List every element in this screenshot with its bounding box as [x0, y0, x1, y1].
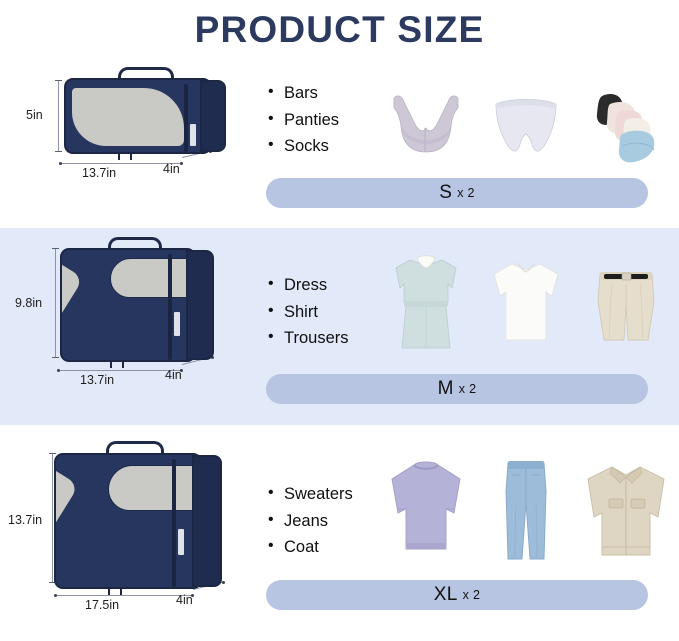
item-shirt [476, 244, 576, 359]
size-label: M [438, 378, 454, 400]
cube-mesh-diagonal-upper-medium [60, 256, 84, 362]
size-pill-xlarge[interactable]: XL x 2 [266, 580, 648, 610]
cube-mesh-top-medium [110, 258, 192, 298]
cube-handle-medium [108, 237, 162, 248]
bullet-item: Dress [268, 272, 349, 299]
cube-bottom-strap-small [118, 152, 132, 160]
width-dot-left-medium [57, 369, 60, 372]
bullet-item: Socks [268, 133, 339, 160]
cube-width-label-medium: 13.7in [80, 373, 114, 387]
bullet-list-small: Bars Panties Socks [268, 80, 339, 160]
cube-mesh-diagonal-lower-medium [60, 322, 61, 362]
cube-zipper-small [184, 84, 188, 152]
cube-width-label-small: 13.7in [82, 166, 116, 180]
cube-mesh-diagonal-upper-xlarge [54, 461, 79, 589]
packing-cube-small [40, 76, 230, 161]
cube-body-medium [60, 248, 196, 362]
item-sweater [376, 451, 476, 571]
cube-body-xlarge [54, 453, 202, 589]
size-pill-small[interactable]: S x 2 [266, 178, 648, 208]
item-bra [376, 78, 476, 173]
cube-side-panel-medium [186, 250, 214, 360]
content-column-xlarge: Sweaters Jeans Coat [256, 425, 679, 641]
cube-zipper-medium [168, 254, 172, 360]
item-socks [576, 78, 676, 173]
cube-zipper-pull-xlarge [178, 529, 184, 555]
bullet-item: Bars [268, 80, 339, 107]
cube-column-xlarge: 13.7in 17.5in 4in [0, 425, 256, 641]
bullet-item: Sweaters [268, 481, 353, 508]
size-quantity: x 2 [459, 382, 477, 396]
size-row-xlarge: 13.7in 17.5in 4in Sweaters Jeans [0, 425, 679, 641]
coat-icon [576, 451, 676, 571]
item-dress [376, 244, 476, 359]
item-panties [476, 78, 576, 173]
cube-zipper-xlarge [172, 459, 176, 587]
shirt-icon [476, 244, 576, 359]
cube-zipper-pull-small [190, 124, 196, 146]
size-quantity: x 2 [457, 186, 475, 200]
size-row-medium: 9.8in 13.7in 4in Dress Shirt Tr [0, 228, 679, 425]
size-quantity: x 2 [463, 588, 481, 602]
item-jeans [476, 451, 576, 571]
socks-icon [576, 78, 676, 173]
bullet-item: Panties [268, 107, 339, 134]
bullet-item: Shirt [268, 299, 349, 326]
panties-icon [476, 78, 576, 173]
bullet-item: Jeans [268, 508, 353, 535]
width-dot-left-small [59, 162, 62, 165]
width-guide-line-medium [58, 370, 182, 371]
cube-mesh-panel-small [72, 88, 184, 146]
cube-depth-label-medium: 4in [165, 368, 182, 382]
cube-depth-label-small: 4in [163, 162, 180, 176]
size-row-small: 5in 13.7in 4in Bars Panties Socks [0, 58, 679, 228]
cube-bottom-strap-medium [110, 360, 124, 368]
trousers-icon [576, 244, 676, 359]
bullet-list-xlarge: Sweaters Jeans Coat [268, 481, 353, 561]
size-label: XL [434, 584, 458, 606]
jeans-icon [476, 451, 576, 571]
page-title: PRODUCT SIZE [195, 11, 485, 48]
packing-cube-medium [38, 244, 228, 369]
sweater-icon [376, 451, 476, 571]
cube-bottom-strap-xlarge [108, 587, 122, 595]
cube-column-medium: 9.8in 13.7in 4in [0, 228, 256, 425]
bullet-item: Trousers [268, 325, 349, 352]
title-bar: PRODUCT SIZE [0, 0, 679, 58]
bullet-list-medium: Dress Shirt Trousers [268, 272, 349, 352]
item-coat [576, 451, 676, 571]
content-column-medium: Dress Shirt Trousers [256, 228, 679, 425]
dress-icon [376, 244, 476, 359]
cube-column-small: 5in 13.7in 4in [0, 58, 256, 228]
cube-zipper-pull-medium [174, 312, 180, 336]
bra-icon [376, 78, 476, 173]
item-trousers [576, 244, 676, 359]
content-column-small: Bars Panties Socks [256, 58, 679, 228]
cube-side-panel-small [200, 80, 226, 152]
cube-body-small [64, 78, 212, 154]
cube-handle-xlarge [106, 441, 164, 453]
bullet-item: Coat [268, 534, 353, 561]
item-images-small [376, 78, 676, 173]
item-images-medium [376, 244, 676, 359]
cube-mesh-top-xlarge [108, 465, 198, 511]
cube-width-label-xlarge: 17.5in [85, 598, 119, 612]
cube-side-panel-xlarge [192, 455, 222, 587]
packing-cube-xlarge [34, 449, 234, 599]
width-dot-right-small [180, 162, 183, 165]
item-images-xlarge [376, 451, 676, 571]
size-pill-medium[interactable]: M x 2 [266, 374, 648, 404]
size-label: S [439, 182, 452, 204]
product-size-infographic: PRODUCT SIZE 5in 13.7in 4in [0, 0, 679, 641]
